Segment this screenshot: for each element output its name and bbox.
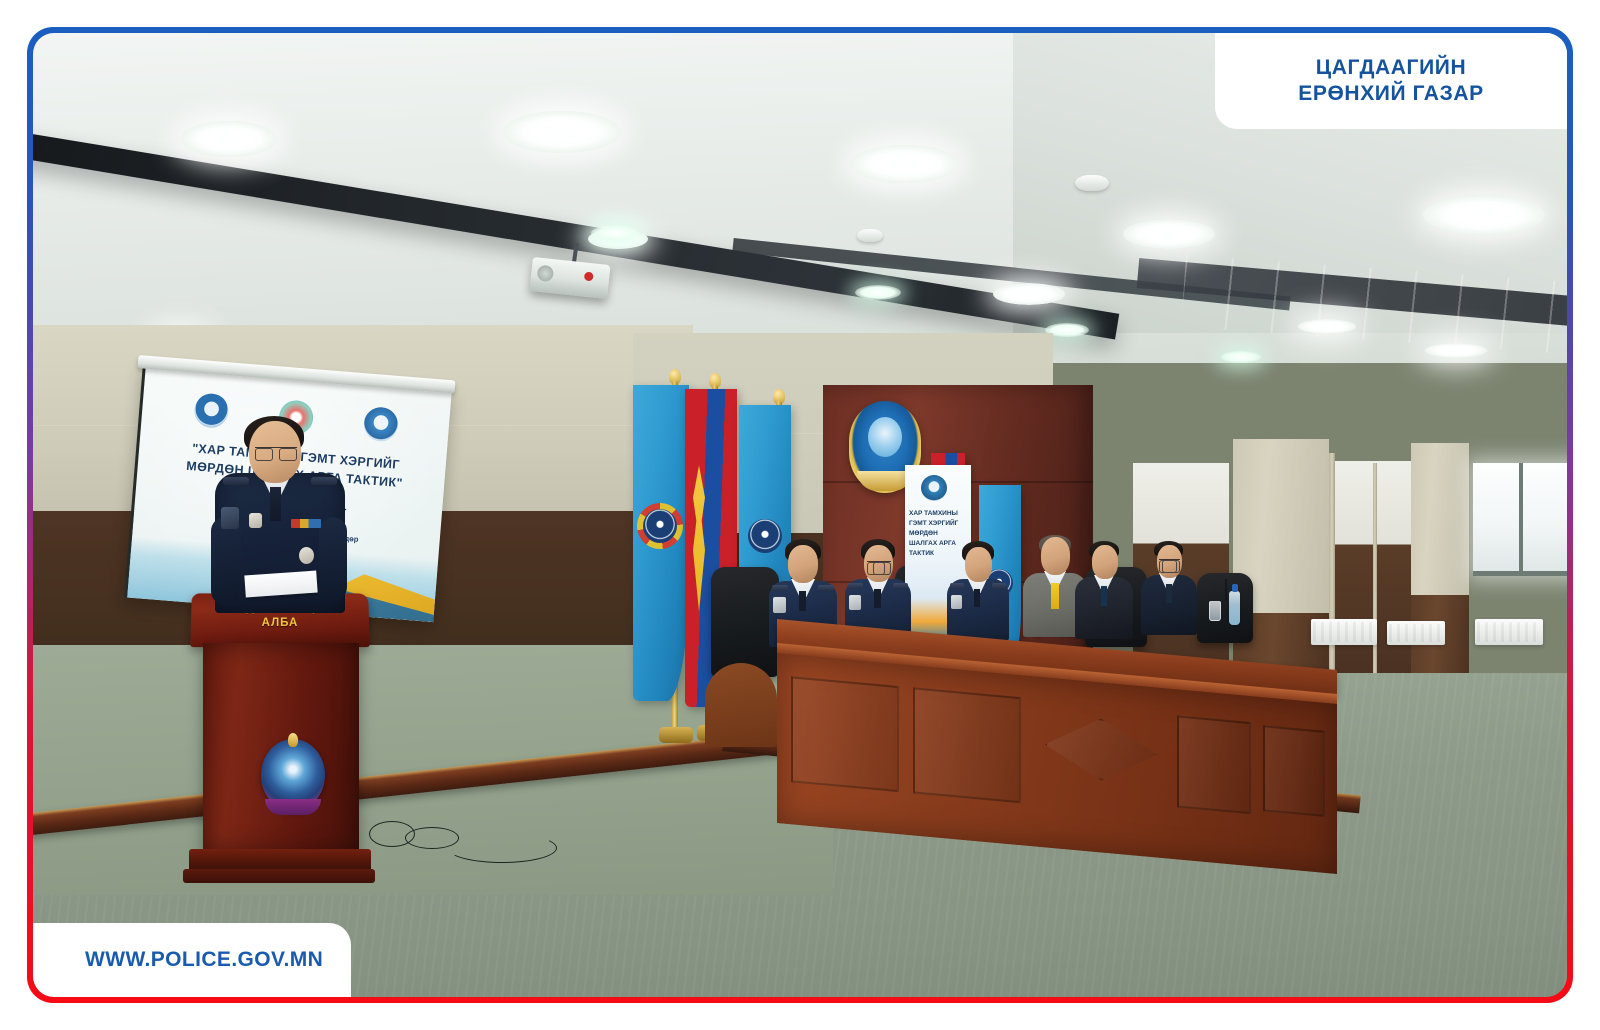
podium-plinth [183, 869, 375, 883]
panelist-epaulette [772, 585, 788, 591]
downlight-icon [993, 283, 1065, 305]
panelist-tie [1051, 583, 1059, 609]
org-name-line2: ЕРӨНХИЙ ГАЗАР [1298, 81, 1483, 107]
panelist-head [965, 547, 992, 582]
smoke-detector-icon [857, 229, 883, 242]
panelist-epaulette [818, 585, 834, 591]
panelist-head [1092, 545, 1118, 579]
beam-downlight-icon [1221, 351, 1261, 363]
police-flag-left [633, 385, 689, 701]
police-emblem-icon [261, 739, 325, 811]
website-url: WWW.POLICE.GOV.MN [85, 948, 323, 972]
speaker-chest-badge-icon [299, 547, 314, 564]
panelist-epaulette [992, 583, 1006, 589]
downlight-icon [851, 145, 959, 183]
table-panel-section [1177, 715, 1251, 814]
conference-photo: "ХАР ТАМХИНЫ ГЭМТ ХЭРГИЙГ МӨРДӨН ШАЛГАХ … [33, 33, 1567, 997]
speaker-name-badge-icon [249, 513, 262, 528]
podium-lectern: МӨРДӨН БАЙЦААХ АЛБА [181, 593, 371, 893]
panelist-epaulette [893, 583, 908, 589]
panelist-tie [799, 591, 806, 611]
org-name-line1: ЦАГДААГИЙН [1316, 55, 1466, 81]
downlight-icon [1425, 343, 1487, 358]
smoke-detector-icon [1075, 175, 1109, 191]
panelist-epaulette [950, 583, 964, 589]
panelist-shoulder-patch-icon [849, 595, 861, 610]
flag-base [659, 727, 693, 743]
panelist-shoulder-patch-icon [951, 595, 962, 609]
frame-inner: "ХАР ТАМХИНЫ ГЭМТ ХЭРГИЙГ МӨРДӨН ШАЛГАХ … [33, 33, 1567, 997]
screen-logo-agency-icon [362, 406, 399, 443]
microphone[interactable] [1225, 579, 1227, 601]
website-tab[interactable]: WWW.POLICE.GOV.MN [33, 923, 351, 997]
window-mullion [1519, 463, 1523, 575]
speaker-shoulder-patch-icon [221, 507, 239, 529]
floor-cable [447, 833, 557, 863]
downlight-icon [1298, 319, 1356, 334]
soyombo-symbol-icon [693, 465, 705, 611]
screenshot-root: "ХАР ТАМХИНЫ ГЭМТ ХЭРГИЙГ МӨРДӨН ШАЛГАХ … [0, 0, 1600, 1030]
podium-body [203, 643, 359, 853]
panelist-glasses-icon [1159, 559, 1180, 565]
speaker-glasses-icon [255, 447, 297, 458]
panelist-tie [1166, 584, 1172, 603]
downlight-icon [181, 121, 277, 157]
panelist-shoulder-patch-icon [773, 597, 786, 613]
downlight-icon [1123, 219, 1215, 249]
speaker-medal-ribbon-icon [291, 519, 321, 528]
downlight-icon [503, 111, 621, 153]
panelist-head [788, 545, 818, 583]
table-panel-section [1263, 725, 1325, 817]
panelist-glasses-icon [867, 561, 891, 568]
beam-downlight-icon [855, 285, 901, 300]
table-diamond-inlay [1045, 713, 1157, 785]
rollup-logo-icon [921, 475, 947, 501]
speaker-epaulette-right [311, 477, 337, 485]
podium-sign-line2: АЛБА [191, 616, 370, 631]
radiator [1475, 619, 1543, 645]
downlight-icon [1423, 195, 1545, 235]
table-panel-section [913, 687, 1021, 803]
speaker-arm-left [211, 517, 241, 605]
head-table [777, 619, 1337, 837]
window-sill [1473, 571, 1567, 576]
speaker-epaulette-left [223, 477, 249, 485]
panelist-tie [974, 589, 980, 607]
wooden-chair[interactable] [705, 663, 777, 747]
speaker-tie [270, 487, 281, 521]
speaker-presenter [215, 421, 345, 611]
beam-downlight-icon [591, 225, 639, 241]
panelist-tie [874, 589, 881, 608]
panelist-epaulette [848, 583, 863, 589]
speaker-arm-right [319, 517, 347, 601]
drinking-glass[interactable] [1209, 601, 1221, 621]
radiator [1387, 621, 1445, 645]
table-panel-section [791, 676, 899, 792]
decorative-frame: "ХАР ТАМХИНЫ ГЭМТ ХЭРГИЙГ МӨРДӨН ШАЛГАХ … [27, 27, 1573, 1003]
flag-seal-icon [643, 509, 677, 543]
panelist-head [1041, 537, 1070, 575]
organization-badge: ЦАГДААГИЙН ЕРӨНХИЙ ГАЗАР [1215, 33, 1567, 129]
panelist-tie [1101, 586, 1107, 606]
projector-lens-icon [584, 272, 594, 282]
